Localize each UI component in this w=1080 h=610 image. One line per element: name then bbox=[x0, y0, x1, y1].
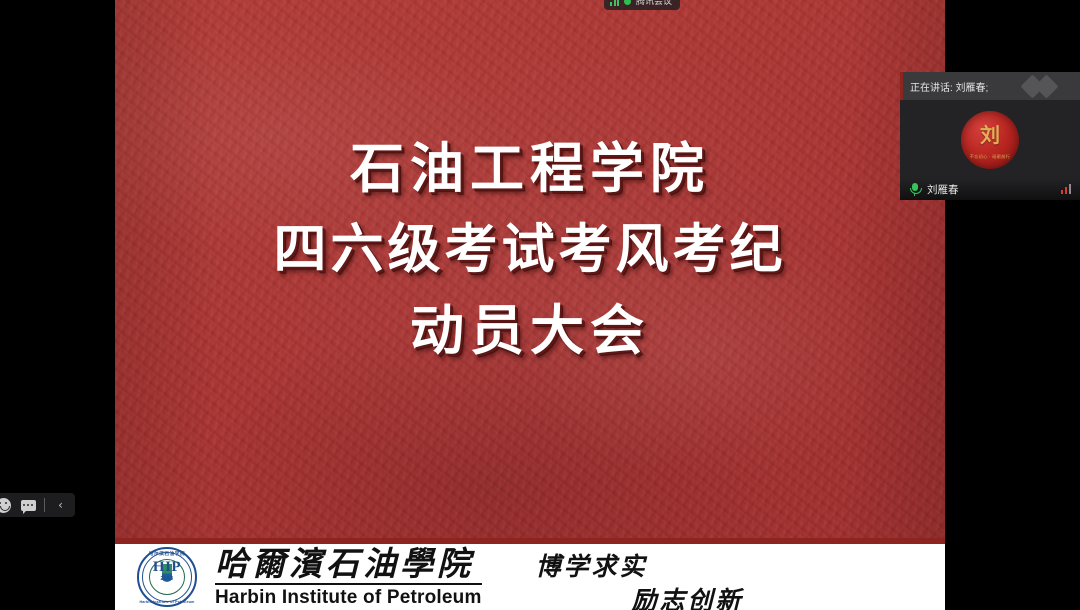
speaker-thumbnail-panel[interactable]: 正在讲话: 刘雁春; 刘 不忘初心 · 砥砺前行 刘雁春 bbox=[900, 72, 1080, 200]
toolbar-divider bbox=[44, 498, 45, 512]
avatar: 刘 不忘初心 · 砥砺前行 bbox=[961, 111, 1019, 169]
signal-bars-icon bbox=[610, 0, 619, 6]
emblem-year: 2003 bbox=[137, 576, 197, 582]
collapse-glyph: ‹ bbox=[58, 499, 63, 511]
chevron-left-icon[interactable]: ‹ bbox=[51, 496, 70, 515]
avatar-subtext: 不忘初心 · 砥砺前行 bbox=[961, 154, 1019, 160]
school-name-en: Harbin Institute of Petroleum bbox=[215, 587, 482, 608]
hip-emblem-icon: 哈尔滨石油学院 HIP 2003 Harbin Institute of Pet… bbox=[137, 547, 197, 607]
speaker-thumbnail-body[interactable]: 刘 不忘初心 · 砥砺前行 刘雁春 bbox=[900, 100, 1080, 200]
slide-title-line-2: 四六级考试考风考纪 bbox=[115, 209, 945, 290]
school-name-block: 哈爾濱石油學院 Harbin Institute of Petroleum bbox=[215, 546, 482, 608]
avatar-glyph: 刘 bbox=[961, 125, 1019, 145]
slide-footer-banner: 哈尔滨石油学院 HIP 2003 Harbin Institute of Pet… bbox=[115, 538, 945, 610]
microphone-on-icon[interactable] bbox=[908, 182, 921, 196]
speaker-thumbnail-footer: 刘雁春 bbox=[900, 178, 1080, 200]
school-name-cn: 哈爾濱石油學院 bbox=[215, 546, 482, 582]
chat-bubble-icon[interactable] bbox=[19, 496, 38, 515]
active-speaker-label: 正在讲话: 刘雁春; bbox=[910, 79, 988, 94]
floating-mini-toolbar[interactable]: ‹ bbox=[0, 493, 75, 517]
network-signal-icon bbox=[1061, 184, 1071, 194]
school-motto-line-1: 博学求实 bbox=[536, 547, 648, 583]
drag-handle-icon[interactable] bbox=[1023, 77, 1067, 95]
slide-title-block: 石油工程学院 四六级考试考风考纪 动员大会 bbox=[115, 128, 945, 371]
participant-name: 刘雁春 bbox=[927, 182, 959, 197]
emblem-arc-top-text: 哈尔滨石油学院 bbox=[137, 551, 197, 557]
meeting-screen: 石油工程学院 四六级考试考风考纪 动员大会 哈尔滨石油学院 HIP 2003 H… bbox=[0, 0, 1080, 610]
slide-title-line-1: 石油工程学院 bbox=[115, 128, 945, 209]
speaker-thumbnail-header[interactable]: 正在讲话: 刘雁春; bbox=[900, 72, 1080, 100]
emoji-reaction-icon[interactable] bbox=[0, 496, 13, 515]
school-motto-block: 博学求实 励志创新 bbox=[536, 545, 786, 609]
meeting-status-label: 腾讯会议 bbox=[636, 0, 672, 6]
emblem-monogram: HIP bbox=[137, 560, 197, 575]
school-motto-line-2: 励志创新 bbox=[632, 581, 744, 610]
slide-title-line-3: 动员大会 bbox=[115, 290, 945, 371]
shared-screen-slide[interactable]: 石油工程学院 四六级考试考风考纪 动员大会 哈尔滨石油学院 HIP 2003 H… bbox=[115, 0, 945, 610]
meeting-status-pill[interactable]: 腾讯会议 bbox=[604, 0, 680, 10]
green-dot-icon bbox=[624, 0, 631, 5]
school-name-divider bbox=[215, 583, 482, 585]
emblem-arc-bottom-text: Harbin Institute of Petroleum bbox=[137, 600, 197, 604]
